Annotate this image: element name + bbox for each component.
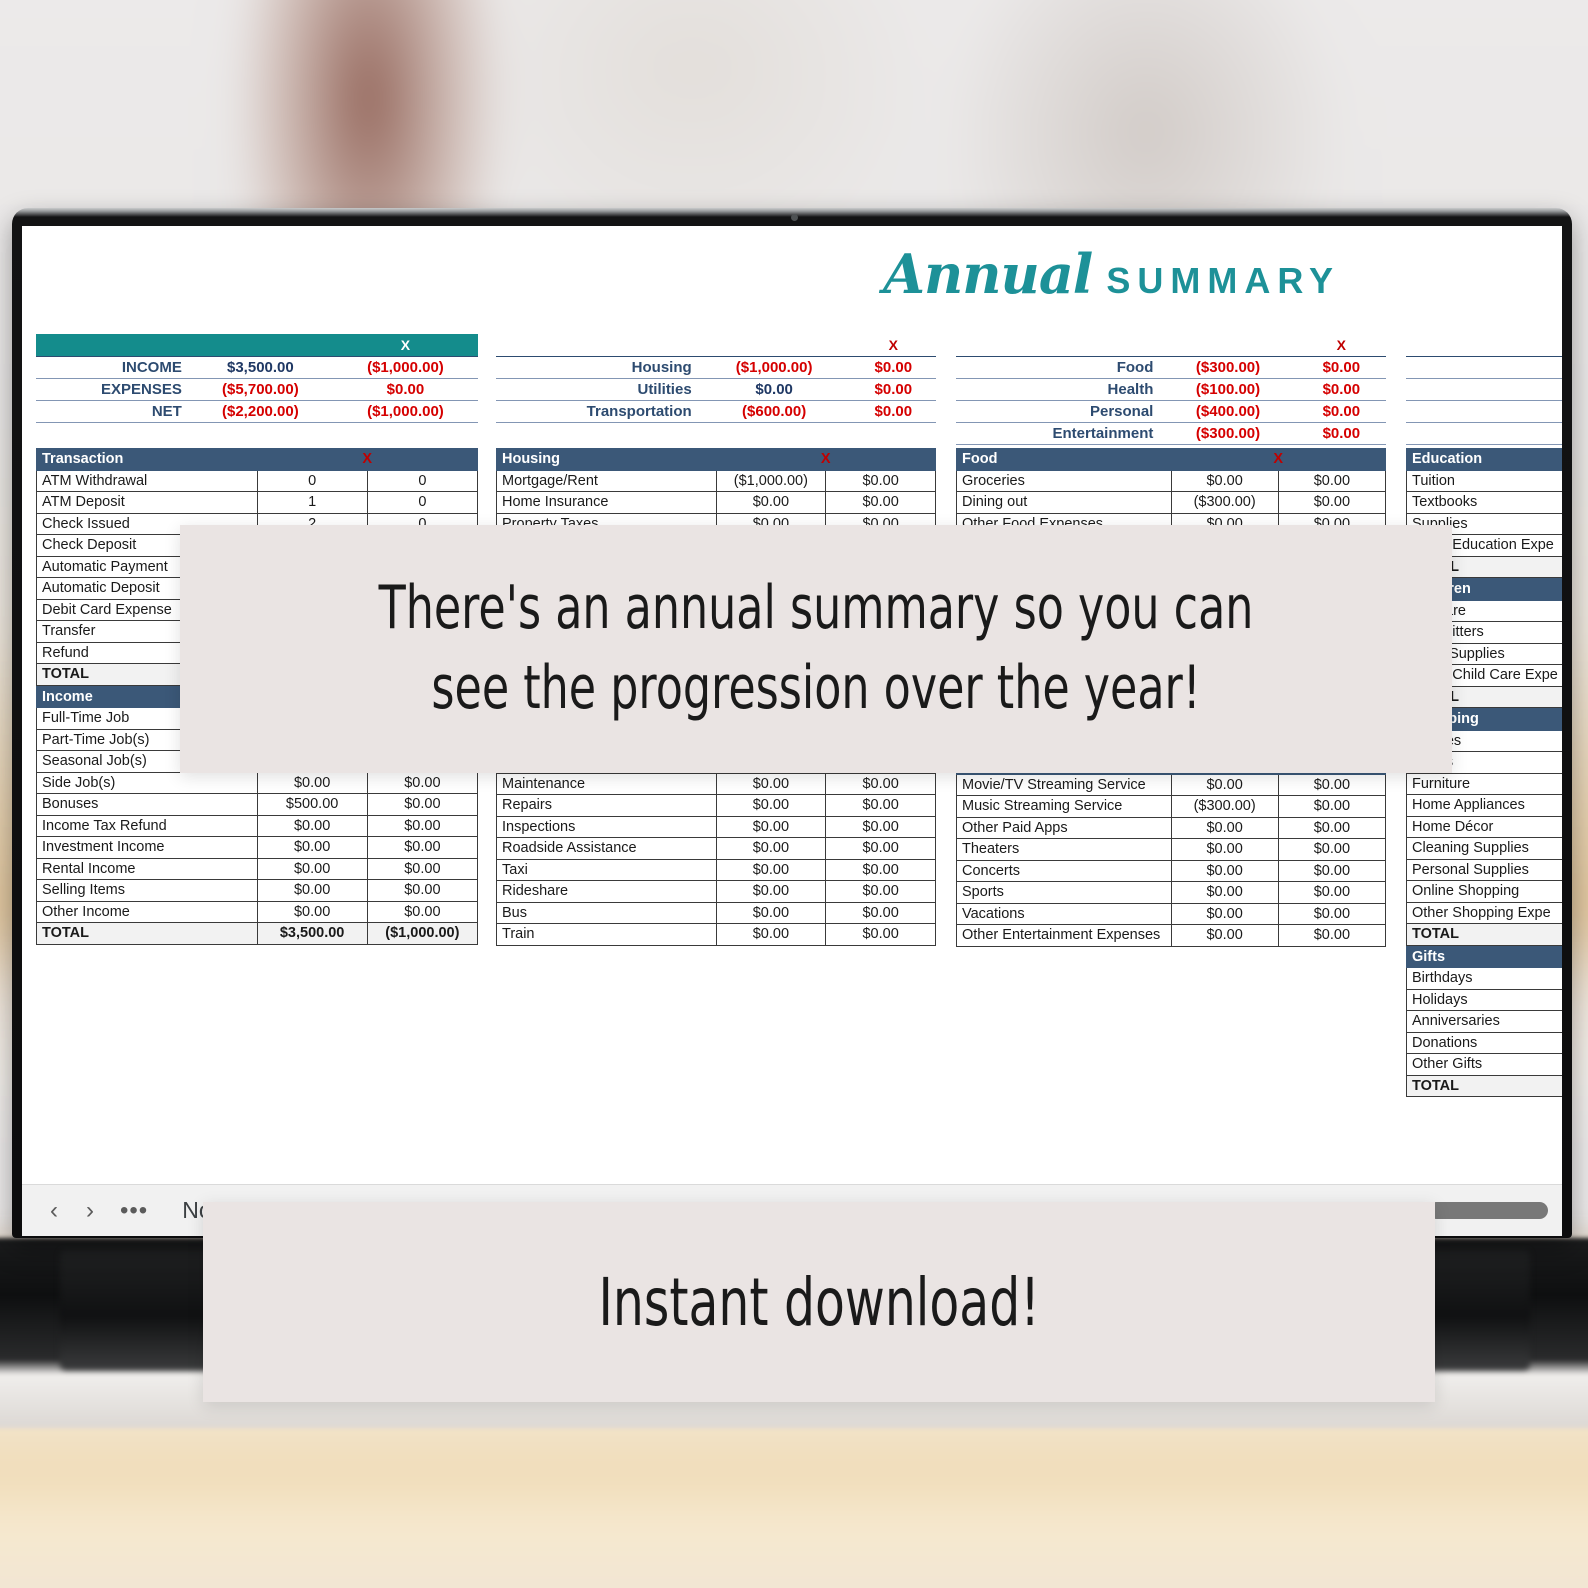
row-value-2[interactable]: $0.00: [826, 881, 936, 903]
row-value-1[interactable]: $0.00: [716, 924, 826, 946]
row-label: Maintenance: [497, 773, 717, 795]
row-label: Online Shopping: [1407, 881, 1563, 903]
summary-block-education: XEducationChildrenShoppingGifts: [1406, 334, 1562, 445]
row-value-1[interactable]: $0.00: [1171, 817, 1278, 839]
section-header-x: X: [1171, 449, 1386, 471]
summary-block-income: XINCOME$3,500.00($1,000.00)EXPENSES($5,7…: [36, 334, 478, 423]
promo-banner-bottom: Instant download!: [203, 1202, 1435, 1402]
row-label: Inspections: [497, 816, 717, 838]
summary-row-item: Utilities$0.00$0.00: [496, 378, 936, 400]
summary-row-value-1: ($1,000.00): [698, 356, 851, 378]
summary-row-value-1: ($100.00): [1159, 378, 1296, 400]
summary-row-item: NET($2,200.00)($1,000.00): [36, 400, 478, 422]
row-label: Investment Income: [37, 837, 258, 859]
table-row[interactable]: Rental Income$0.00$0.00: [37, 858, 478, 880]
row-value-2[interactable]: $0.00: [367, 880, 477, 902]
row-value-2[interactable]: $0.00: [1278, 470, 1385, 492]
summary-row-label: Housing: [496, 356, 698, 378]
row-value-2[interactable]: $0.00: [1278, 774, 1385, 796]
table-row[interactable]: Donations: [1407, 1032, 1563, 1054]
row-label: TOTAL: [1407, 1075, 1563, 1097]
summary-row-value-1: $0.00: [698, 378, 851, 400]
section-header-x: X: [257, 449, 478, 471]
section-header-x: X: [716, 449, 936, 471]
table-row[interactable]: Income Tax Refund$0.00$0.00: [37, 815, 478, 837]
table-row[interactable]: Selling Items$0.00$0.00: [37, 880, 478, 902]
row-label: Donations: [1407, 1032, 1563, 1054]
table-row[interactable]: Home Décor: [1407, 816, 1563, 838]
table-row[interactable]: Personal Supplies: [1407, 859, 1563, 881]
summary-row-label: Personal: [956, 400, 1159, 422]
table-row[interactable]: Maintenance$0.00$0.00: [497, 773, 936, 795]
page-title: Annual SUMMARY: [883, 242, 1340, 306]
row-label: Dining out: [957, 492, 1172, 514]
row-value-2[interactable]: $0.00: [826, 902, 936, 924]
summary-row-label: Transportation: [496, 400, 698, 422]
summary-header-blank2: [1159, 334, 1296, 356]
row-label: Home Insurance: [497, 492, 717, 514]
row-value-2[interactable]: 0: [367, 492, 477, 514]
summary-header-blank: [36, 334, 188, 356]
row-value-1[interactable]: $0.00: [257, 815, 367, 837]
row-value-2[interactable]: $0.00: [826, 470, 936, 492]
summary-row-value-2: $0.00: [1297, 400, 1386, 422]
row-value-1[interactable]: $0.00: [716, 773, 826, 795]
row-value-1[interactable]: $0.00: [1171, 903, 1278, 925]
table-row[interactable]: Textbooks: [1407, 492, 1563, 514]
table-row[interactable]: Other Shopping Expe: [1407, 902, 1563, 924]
row-label: Furniture: [1407, 773, 1563, 795]
row-value-2[interactable]: $0.00: [1278, 839, 1385, 861]
summary-block-food: XFood($300.00)$0.00Health($100.00)$0.00P…: [956, 334, 1386, 445]
table-row[interactable]: Home Insurance$0.00$0.00: [497, 492, 936, 514]
row-label: Birthdays: [1407, 968, 1563, 990]
row-label: Concerts: [957, 860, 1172, 882]
row-value-2[interactable]: $0.00: [1278, 925, 1385, 947]
summary-table: XHousing($1,000.00)$0.00Utilities$0.00$0…: [496, 334, 936, 423]
section-title: Food: [957, 449, 1172, 471]
row-label: Textbooks: [1407, 492, 1563, 514]
section-header-row: FoodX: [957, 449, 1386, 471]
row-label: Train: [497, 924, 717, 946]
row-value-1[interactable]: $0.00: [1171, 470, 1278, 492]
summary-header-x: X: [1297, 334, 1386, 356]
summary-row-value-2: $0.00: [1297, 356, 1386, 378]
row-value-1[interactable]: $0.00: [257, 858, 367, 880]
next-sheet-icon[interactable]: ›: [72, 1199, 108, 1223]
row-label: Roadside Assistance: [497, 838, 717, 860]
previous-sheet-icon[interactable]: ‹: [36, 1199, 72, 1223]
row-value-2[interactable]: $0.00: [1278, 903, 1385, 925]
row-label: Other Paid Apps: [957, 817, 1172, 839]
row-value-1[interactable]: $0.00: [716, 492, 826, 514]
section-title: Education: [1407, 449, 1563, 471]
table-row[interactable]: Side Job(s)$0.00$0.00: [37, 772, 478, 794]
summary-header-row: X: [36, 334, 478, 356]
row-label: Groceries: [957, 470, 1172, 492]
row-label: Anniversaries: [1407, 1011, 1563, 1033]
summary-row-value-2: $0.00: [851, 378, 936, 400]
summary-row-label: EXPENSES: [36, 378, 188, 400]
row-value-2[interactable]: $0.00: [367, 858, 477, 880]
summary-row-value-1: ($600.00): [698, 400, 851, 422]
summary-header-row: X: [1406, 334, 1562, 356]
promo-banner-top-text: There's an annual summary so you can see…: [345, 569, 1286, 729]
row-label: Repairs: [497, 795, 717, 817]
summary-table: XINCOME$3,500.00($1,000.00)EXPENSES($5,7…: [36, 334, 478, 423]
table-row[interactable]: Theaters$0.00$0.00: [957, 839, 1386, 861]
row-value-2[interactable]: $0.00: [367, 772, 477, 794]
section-title: Transaction: [37, 449, 258, 471]
title-caps-word: SUMMARY: [1106, 260, 1340, 302]
summary-row-value-1: ($5,700.00): [188, 378, 333, 400]
summary-header-blank: [1406, 334, 1562, 356]
row-value-2[interactable]: $0.00: [367, 837, 477, 859]
summary-header-x: X: [851, 334, 936, 356]
section-header-row: Gifts: [1407, 946, 1563, 968]
row-value-1[interactable]: $0.00: [1171, 860, 1278, 882]
row-value-2[interactable]: 0: [367, 470, 477, 492]
row-label: Tuition: [1407, 470, 1563, 492]
summary-row-value-2: $0.00: [851, 356, 936, 378]
row-value-1[interactable]: $0.00: [1171, 774, 1278, 796]
table-row[interactable]: Concerts$0.00$0.00: [957, 860, 1386, 882]
summary-row-label: INCOME: [36, 356, 188, 378]
row-value-1[interactable]: 0: [257, 470, 367, 492]
row-value-2[interactable]: $0.00: [367, 815, 477, 837]
table-row[interactable]: Groceries$0.00$0.00: [957, 470, 1386, 492]
summary-row: XINCOME$3,500.00($1,000.00)EXPENSES($5,7…: [22, 334, 1562, 420]
row-value-1[interactable]: $0.00: [257, 901, 367, 923]
row-label: Home Appliances: [1407, 795, 1563, 817]
row-label: Selling Items: [37, 880, 258, 902]
table-row[interactable]: Movie/TV Streaming Service$0.00$0.00: [957, 774, 1386, 796]
summary-row-item: INCOME$3,500.00($1,000.00): [36, 356, 478, 378]
horizontal-scrollbar-thumb[interactable]: [1428, 1202, 1548, 1219]
row-value-2[interactable]: $0.00: [367, 794, 477, 816]
row-value-1[interactable]: $0.00: [716, 902, 826, 924]
summary-row-item: Gifts: [1406, 422, 1562, 444]
summary-row-value-1: $3,500.00: [188, 356, 333, 378]
row-label: Income Tax Refund: [37, 815, 258, 837]
row-label: Bonuses: [37, 794, 258, 816]
table-row[interactable]: Holidays: [1407, 989, 1563, 1011]
summary-row-item: Personal($400.00)$0.00: [956, 400, 1386, 422]
row-value-2[interactable]: $0.00: [1278, 860, 1385, 882]
row-label: Home Décor: [1407, 816, 1563, 838]
row-value-2[interactable]: $0.00: [826, 924, 936, 946]
table-row[interactable]: ATM Deposit10: [37, 492, 478, 514]
table-row[interactable]: Inspections$0.00$0.00: [497, 816, 936, 838]
table-row[interactable]: Dining out($300.00)$0.00: [957, 492, 1386, 514]
row-label: Other Entertainment Expenses: [957, 925, 1172, 947]
summary-row-label: Gifts: [1406, 422, 1562, 444]
row-value-2[interactable]: $0.00: [1278, 817, 1385, 839]
table-row[interactable]: Bus$0.00$0.00: [497, 902, 936, 924]
row-label: Taxi: [497, 859, 717, 881]
section-title: Gifts: [1407, 946, 1563, 968]
table-row[interactable]: Vacations$0.00$0.00: [957, 903, 1386, 925]
row-label: Personal Supplies: [1407, 859, 1563, 881]
section-header-row: HousingX: [497, 449, 936, 471]
row-value-1[interactable]: $0.00: [716, 881, 826, 903]
row-value-2[interactable]: $0.00: [826, 838, 936, 860]
row-value-1[interactable]: $0.00: [1171, 882, 1278, 904]
row-label: Movie/TV Streaming Service: [957, 774, 1172, 796]
table-row[interactable]: Cleaning Supplies: [1407, 838, 1563, 860]
all-sheets-icon[interactable]: •••: [108, 1197, 160, 1225]
row-label: Rental Income: [37, 858, 258, 880]
row-label: TOTAL: [1407, 924, 1563, 946]
summary-row-value-2: ($1,000.00): [333, 356, 478, 378]
summary-row-item: Shopping: [1406, 400, 1562, 422]
promo-banner-bottom-text: Instant download!: [598, 1264, 1039, 1341]
row-label: Mortgage/Rent: [497, 470, 717, 492]
summary-row-label: Shopping: [1406, 400, 1562, 422]
summary-header-blank: [956, 334, 1159, 356]
summary-row-label: Children: [1406, 378, 1562, 400]
summary-row-value-2: ($1,000.00): [333, 400, 478, 422]
row-value-1[interactable]: $3,500.00: [257, 923, 367, 945]
row-value-2[interactable]: ($1,000.00): [367, 923, 477, 945]
summary-row-value-2: $0.00: [851, 400, 936, 422]
row-value-1[interactable]: $0.00: [716, 838, 826, 860]
section-table[interactable]: EntertainmentXMovie/TV Streaming Service…: [956, 752, 1386, 947]
summary-table: XFood($300.00)$0.00Health($100.00)$0.00P…: [956, 334, 1386, 445]
row-value-1[interactable]: ($300.00): [1171, 492, 1278, 514]
row-label: ATM Deposit: [37, 492, 258, 514]
row-value-2[interactable]: $0.00: [826, 795, 936, 817]
row-value-1[interactable]: ($1,000.00): [716, 470, 826, 492]
row-label: Other Shopping Expe: [1407, 902, 1563, 924]
summary-row-value-1: ($2,200.00): [188, 400, 333, 422]
row-value-2[interactable]: $0.00: [826, 859, 936, 881]
summary-header-x: X: [333, 334, 478, 356]
row-value-1[interactable]: $0.00: [1171, 925, 1278, 947]
summary-row-label: NET: [36, 400, 188, 422]
summary-row-value-2: $0.00: [1297, 378, 1386, 400]
row-value-2[interactable]: $0.00: [367, 901, 477, 923]
row-value-2[interactable]: $0.00: [826, 816, 936, 838]
row-value-1[interactable]: ($300.00): [1171, 796, 1278, 818]
summary-row-label: Utilities: [496, 378, 698, 400]
summary-row-label: Education: [1406, 356, 1562, 378]
summary-row-label: Entertainment: [956, 422, 1159, 444]
summary-row-item: Housing($1,000.00)$0.00: [496, 356, 936, 378]
summary-header-blank: [496, 334, 698, 356]
section-title: Housing: [497, 449, 717, 471]
summary-row-value-1: ($400.00): [1159, 400, 1296, 422]
summary-block-housing: XHousing($1,000.00)$0.00Utilities$0.00$0…: [496, 334, 936, 423]
row-label: Other Gifts: [1407, 1054, 1563, 1076]
row-value-1[interactable]: $0.00: [1171, 839, 1278, 861]
summary-row-value-1: ($300.00): [1159, 422, 1296, 444]
table-row[interactable]: Birthdays: [1407, 968, 1563, 990]
row-value-1[interactable]: $500.00: [257, 794, 367, 816]
promo-image: Annual SUMMARY XINCOME$3,500.00($1,000.0…: [0, 0, 1588, 1588]
table-row[interactable]: Investment Income$0.00$0.00: [37, 837, 478, 859]
summary-header-row: X: [496, 334, 936, 356]
section-table[interactable]: FoodXGroceries$0.00$0.00Dining out($300.…: [956, 448, 1386, 535]
summary-row-value-2: $0.00: [333, 378, 478, 400]
row-label: Music Streaming Service: [957, 796, 1172, 818]
row-value-2[interactable]: $0.00: [1278, 882, 1385, 904]
table-row[interactable]: TOTAL: [1407, 924, 1563, 946]
table-row[interactable]: Home Appliances: [1407, 795, 1563, 817]
table-row[interactable]: Bonuses$500.00$0.00: [37, 794, 478, 816]
row-label: ATM Withdrawal: [37, 470, 258, 492]
table-row[interactable]: Other Gifts: [1407, 1054, 1563, 1076]
row-value-1[interactable]: $0.00: [716, 795, 826, 817]
table-row[interactable]: Taxi$0.00$0.00: [497, 859, 936, 881]
table-row[interactable]: Other Entertainment Expenses$0.00$0.00: [957, 925, 1386, 947]
row-label: Bus: [497, 902, 717, 924]
summary-table: XEducationChildrenShoppingGifts: [1406, 334, 1562, 445]
summary-header-blank2: [188, 334, 333, 356]
row-value-2[interactable]: $0.00: [826, 492, 936, 514]
summary-row-item: Health($100.00)$0.00: [956, 378, 1386, 400]
summary-header-row: X: [956, 334, 1386, 356]
summary-row-item: EXPENSES($5,700.00)$0.00: [36, 378, 478, 400]
table-row[interactable]: Sports$0.00$0.00: [957, 882, 1386, 904]
row-value-1[interactable]: $0.00: [716, 816, 826, 838]
row-value-1[interactable]: $0.00: [716, 859, 826, 881]
table-row[interactable]: TOTAL: [1407, 1075, 1563, 1097]
row-label: TOTAL: [37, 923, 258, 945]
section-header-row: Education: [1407, 449, 1563, 471]
summary-row-value-1: ($300.00): [1159, 356, 1296, 378]
row-label: Vacations: [957, 903, 1172, 925]
summary-row-label: Health: [956, 378, 1159, 400]
row-value-2[interactable]: $0.00: [826, 773, 936, 795]
table-row[interactable]: ATM Withdrawal00: [37, 470, 478, 492]
section-table[interactable]: GiftsBirthdaysHolidaysAnniversariesDonat…: [1406, 946, 1562, 1098]
summary-row-item: Entertainment($300.00)$0.00: [956, 422, 1386, 444]
table-row[interactable]: Tuition: [1407, 470, 1563, 492]
summary-row-value-2: $0.00: [1297, 422, 1386, 444]
row-label: Side Job(s): [37, 772, 258, 794]
row-value-1[interactable]: $0.00: [257, 880, 367, 902]
row-value-1[interactable]: $0.00: [257, 772, 367, 794]
promo-banner-top: There's an annual summary so you can see…: [180, 525, 1452, 773]
table-row[interactable]: Roadside Assistance$0.00$0.00: [497, 838, 936, 860]
summary-header-blank2: [698, 334, 851, 356]
row-value-1[interactable]: 1: [257, 492, 367, 514]
summary-row-item: Children: [1406, 378, 1562, 400]
table-row[interactable]: Anniversaries: [1407, 1011, 1563, 1033]
table-row[interactable]: Repairs$0.00$0.00: [497, 795, 936, 817]
row-label: Rideshare: [497, 881, 717, 903]
summary-row-item: Education: [1406, 356, 1562, 378]
row-value-1[interactable]: $0.00: [257, 837, 367, 859]
summary-row-label: Food: [956, 356, 1159, 378]
table-row[interactable]: Mortgage/Rent($1,000.00)$0.00: [497, 470, 936, 492]
table-row[interactable]: TOTAL$3,500.00($1,000.00): [37, 923, 478, 945]
row-label: Theaters: [957, 839, 1172, 861]
row-label: Cleaning Supplies: [1407, 838, 1563, 860]
table-row[interactable]: Other Paid Apps$0.00$0.00: [957, 817, 1386, 839]
table-row[interactable]: Music Streaming Service($300.00)$0.00: [957, 796, 1386, 818]
table-row[interactable]: Online Shopping: [1407, 881, 1563, 903]
summary-row-item: Transportation($600.00)$0.00: [496, 400, 936, 422]
row-label: Sports: [957, 882, 1172, 904]
row-label: Other Income: [37, 901, 258, 923]
summary-row-item: Food($300.00)$0.00: [956, 356, 1386, 378]
row-value-2[interactable]: $0.00: [1278, 492, 1385, 514]
title-script-word: Annual: [883, 242, 1092, 306]
table-row[interactable]: Train$0.00$0.00: [497, 924, 936, 946]
row-value-2[interactable]: $0.00: [1278, 796, 1385, 818]
section-header-row: TransactionX: [37, 449, 478, 471]
table-row[interactable]: Other Income$0.00$0.00: [37, 901, 478, 923]
table-row[interactable]: Furniture: [1407, 773, 1563, 795]
row-label: Holidays: [1407, 989, 1563, 1011]
section-table[interactable]: HousingXMortgage/Rent($1,000.00)$0.00Hom…: [496, 448, 936, 535]
table-row[interactable]: Rideshare$0.00$0.00: [497, 881, 936, 903]
webcam-icon: [791, 214, 798, 221]
